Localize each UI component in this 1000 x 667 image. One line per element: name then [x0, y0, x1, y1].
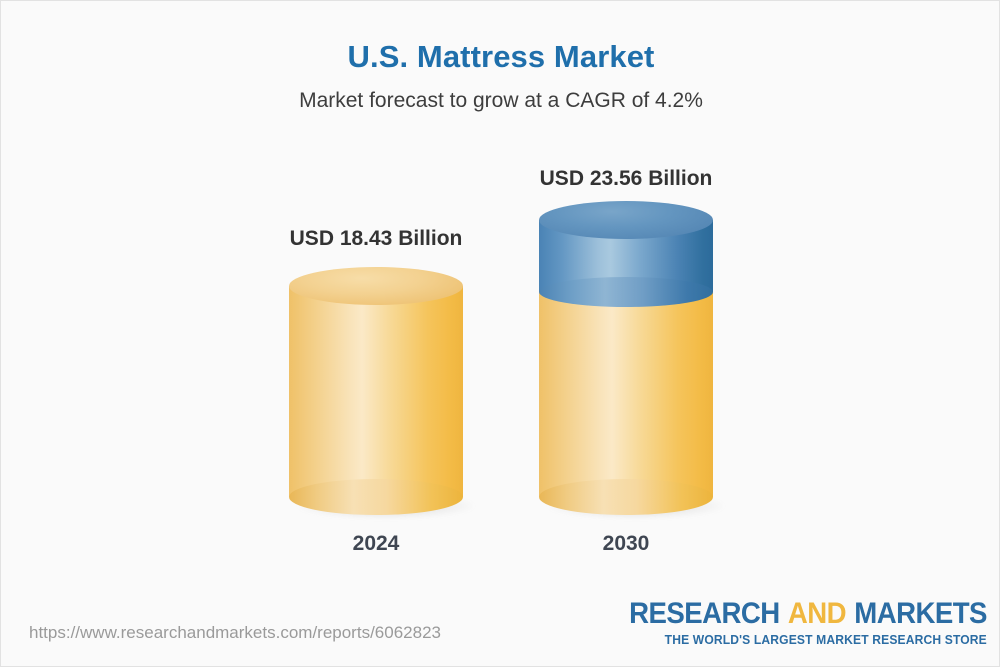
- logo-word-markets: MARKETS: [854, 597, 987, 630]
- bar-cap-2030: [539, 201, 713, 239]
- category-label-2024: 2024: [260, 532, 492, 556]
- report-url[interactable]: https://www.researchandmarkets.com/repor…: [29, 623, 441, 643]
- value-label-2024: USD 18.43 Billion: [260, 227, 492, 251]
- infographic-canvas: U.S. Mattress Market Market forecast to …: [0, 0, 1000, 667]
- bar-foot-2030: [539, 479, 713, 515]
- research-and-markets-logo[interactable]: RESEARCHANDMARKETS THE WORLD'S LARGEST M…: [598, 599, 987, 647]
- bar-cylinder-2030[interactable]: [539, 201, 713, 515]
- category-label-2030: 2030: [510, 532, 742, 556]
- chart-plot-area: USD 18.43 Billion 2024 USD 23.56 Billion…: [1, 1, 1000, 601]
- bar-cylinder-2024[interactable]: [289, 267, 463, 515]
- bar-cap-2024: [289, 267, 463, 305]
- bar-segment-base-2024: [289, 286, 463, 497]
- bar-segment-base-2030: [539, 286, 713, 497]
- bar-foot-2024: [289, 479, 463, 515]
- value-label-2030: USD 23.56 Billion: [510, 167, 742, 191]
- logo-word-research: RESEARCH: [629, 597, 779, 630]
- logo-word-and: AND: [788, 597, 846, 630]
- logo-wordmark: RESEARCHANDMARKETS: [629, 599, 987, 630]
- bar-segment-seam-2030: [539, 277, 713, 307]
- logo-tagline: THE WORLD'S LARGEST MARKET RESEARCH STOR…: [614, 633, 987, 647]
